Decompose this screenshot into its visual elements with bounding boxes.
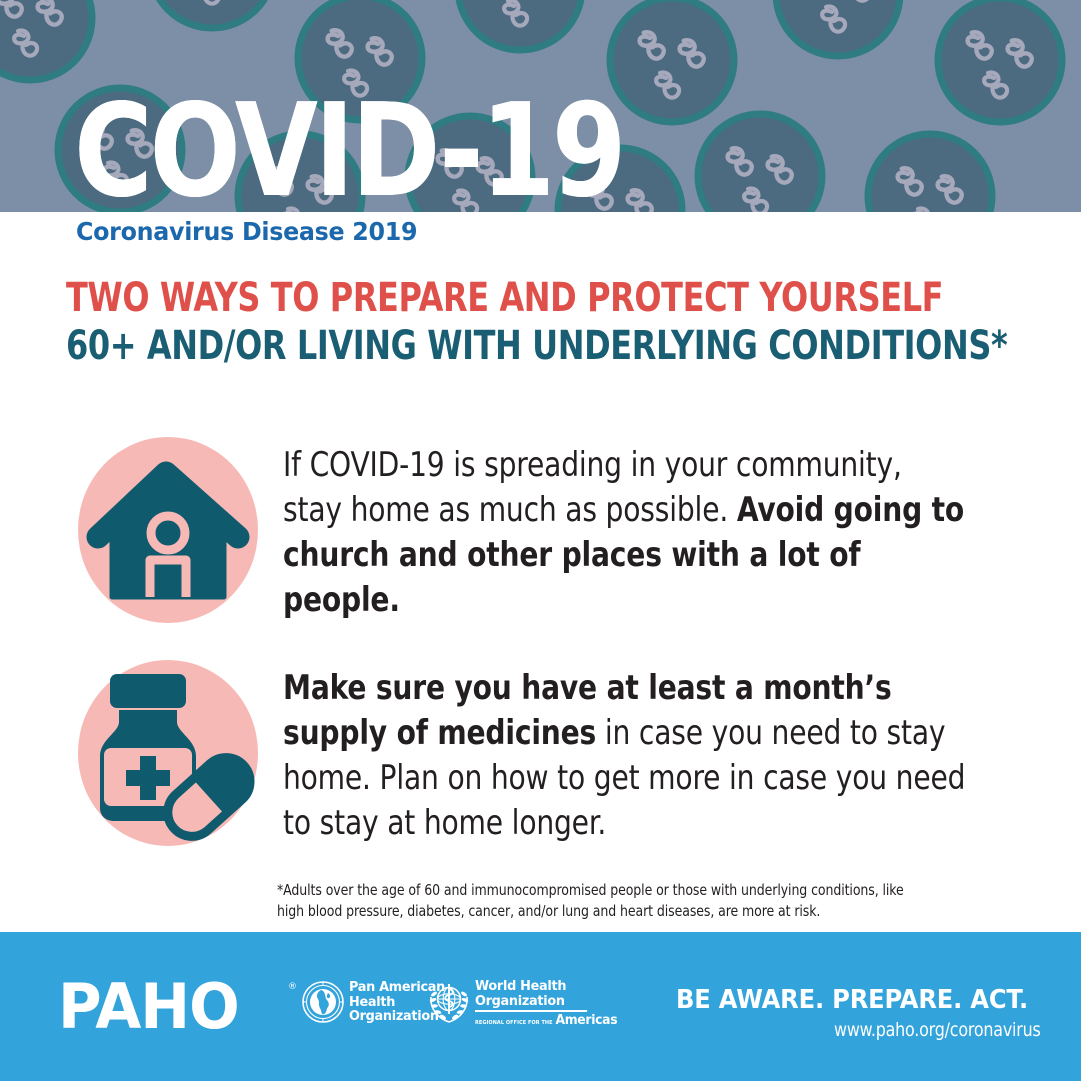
- who-emblem-icon: [427, 980, 471, 1024]
- tip-text-medicine-supply: Make sure you have at least a month’s su…: [283, 660, 968, 846]
- who-lockup-text: World Health Organization REGIONAL OFFIC…: [475, 979, 617, 1028]
- who-lockup-line-2: Organization: [475, 994, 617, 1009]
- paho-wordmark: PAHO: [58, 976, 239, 1038]
- tip-row-medicine-supply: Make sure you have at least a month’s su…: [78, 660, 1028, 846]
- footer-url[interactable]: www.paho.org/coronavirus: [834, 1019, 1041, 1041]
- medicine-bottle-icon: [78, 660, 258, 846]
- medicine-bottle-icon-circle: [78, 660, 258, 846]
- who-region-prefix: REGIONAL OFFICE FOR THE: [475, 1020, 553, 1028]
- house-icon-circle: [78, 437, 258, 623]
- tip-row-stay-home: If COVID-19 is spreading in your communi…: [78, 437, 1028, 623]
- page-title: COVID-19: [74, 88, 623, 212]
- heading-primary: TWO WAYS TO PREPARE AND PROTECT YOURSELF: [66, 275, 1007, 321]
- heading-secondary: 60+ AND/OR LIVING WITH UNDERLYING CONDIT…: [66, 323, 1007, 369]
- header-band: COVID-19: [0, 0, 1081, 212]
- who-lockup-line-1: World Health: [475, 979, 617, 994]
- covid19-infographic-poster: COVID-19 Coronavirus Disease 2019 TWO WA…: [0, 0, 1081, 1081]
- tip-text-stay-home: If COVID-19 is spreading in your communi…: [283, 437, 968, 623]
- who-lockup: World Health Organization REGIONAL OFFIC…: [427, 979, 625, 1028]
- who-region-row: REGIONAL OFFICE FOR THE Americas: [475, 1013, 617, 1028]
- paho-globe-seal-icon: [302, 981, 344, 1023]
- footer-tagline: BE AWARE. PREPARE. ACT.: [676, 985, 1028, 1015]
- headings-block: TWO WAYS TO PREPARE AND PROTECT YOURSELF…: [66, 275, 1081, 369]
- house-icon: [78, 437, 258, 623]
- who-region-name: Americas: [555, 1013, 617, 1028]
- page-subtitle: Coronavirus Disease 2019: [76, 217, 417, 246]
- footnote: *Adults over the age of 60 and immunocom…: [277, 880, 928, 922]
- who-lockup-divider: [475, 1010, 587, 1012]
- registered-trademark-icon: ®: [288, 982, 297, 992]
